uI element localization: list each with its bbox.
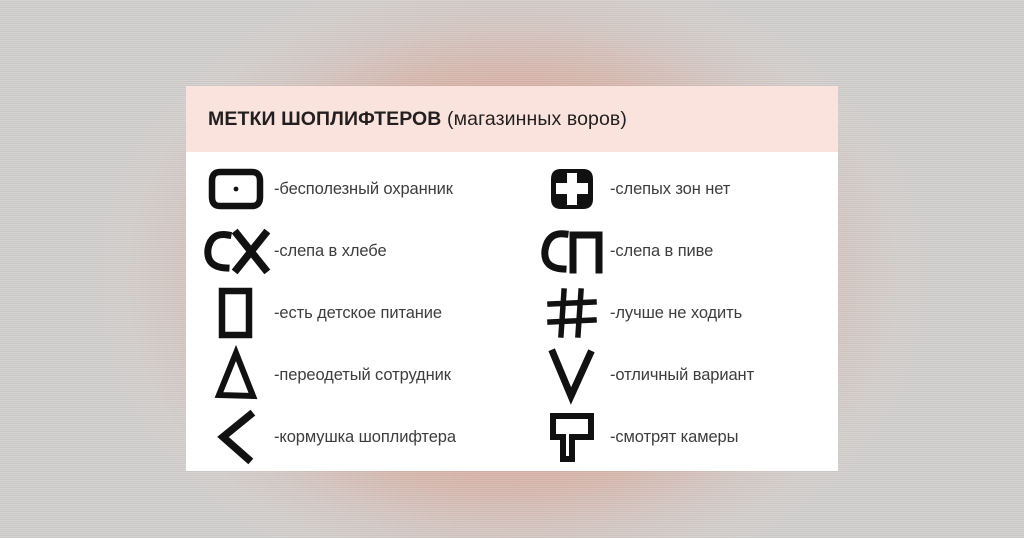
legend-item-label: -смотрят камеры [610,428,738,447]
legend-item: -есть детское питание [198,282,516,344]
c-x-icon [198,220,274,282]
page-title: МЕТКИ ШОПЛИФТЕРОВ (магазинных воров) [208,108,627,131]
page-title-light: (магазинных воров) [447,108,627,130]
rounded-box-with-dot-icon [198,158,274,220]
triangle-outline-icon [198,344,274,406]
legend-item: -слепа в хлебе [198,220,516,282]
legend-column-left: -бесполезный охранник -слепа в хлебе [186,158,516,471]
legend-item: -бесполезный охранник [198,158,516,220]
legend-item: -отличный вариант [534,344,838,406]
legend-text: переодетый сотрудник [279,366,450,384]
legend-item: -слепа в пиве [534,220,838,282]
legend-item-label: -лучше не ходить [610,304,742,323]
legend-text: бесполезный охранник [279,180,452,198]
flag-tee-outline-icon [534,406,610,468]
legend-item-label: -отличный вариант [610,366,754,385]
c-p-icon [534,220,610,282]
legend-text: отличный вариант [615,366,754,384]
shoplifter-marks-card: МЕТКИ ШОПЛИФТЕРОВ (магазинных воров) -бе… [186,86,838,471]
legend-item-label: -кормушка шоплифтера [274,428,456,447]
legend-item: -переодетый сотрудник [198,344,516,406]
hash-icon [534,282,610,344]
v-check-icon [534,344,610,406]
legend-text: есть детское питание [279,304,442,322]
filled-circle-cross-cutout-icon [534,158,610,220]
legend-item: -смотрят камеры [534,406,838,468]
legend-item: -слепых зон нет [534,158,838,220]
legend-text: кормушка шоплифтера [279,428,456,446]
page-title-strong: МЕТКИ ШОПЛИФТЕРОВ [208,108,442,130]
legend-text: слепых зон нет [615,180,730,198]
legend-text: смотрят камеры [615,428,738,446]
legend-item-label: -бесполезный охранник [274,180,453,199]
legend-item-label: -есть детское питание [274,304,442,323]
legend-item-label: -слепа в пиве [610,242,713,261]
legend-item-label: -слепых зон нет [610,180,730,199]
left-chevron-icon [198,406,274,468]
legend-item-label: -переодетый сотрудник [274,366,451,385]
legend-item: -кормушка шоплифтера [198,406,516,468]
legend-body: -бесполезный охранник -слепа в хлебе [186,152,838,471]
rectangle-outline-icon [198,282,274,344]
legend-text: слепа в пиве [615,242,713,260]
legend-item-label: -слепа в хлебе [274,242,387,261]
legend-column-right: -слепых зон нет -слепа в пиве [516,158,838,471]
legend-text: слепа в хлебе [279,242,386,260]
card-header: МЕТКИ ШОПЛИФТЕРОВ (магазинных воров) [186,86,838,152]
legend-item: -лучше не ходить [534,282,838,344]
legend-text: лучше не ходить [615,304,742,322]
